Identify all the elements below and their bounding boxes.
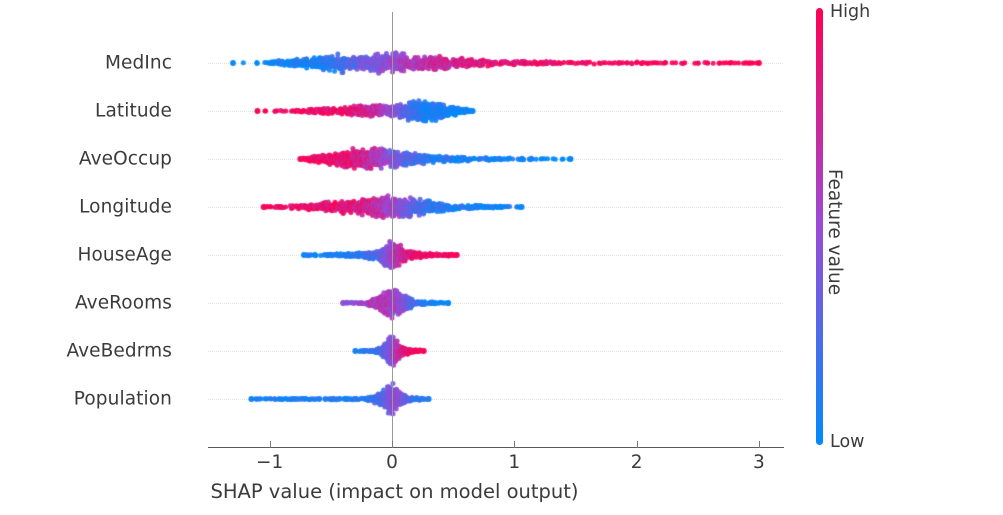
colorbar-high-label: High: [830, 2, 870, 22]
y-axis-label-population: Population: [74, 389, 172, 410]
feature-value-colorbar: [816, 8, 823, 445]
x-tick-mark-0: [270, 441, 271, 448]
zero-reference-line: [392, 12, 393, 448]
x-tick-label-2: 1: [508, 452, 520, 473]
y-axis-label-latitude: Latitude: [95, 101, 172, 122]
y-axis-label-avebedrms: AveBedrms: [66, 341, 172, 362]
shap-summary-plot: MedIncLatitudeAveOccupLongitudeHouseAgeA…: [0, 0, 1003, 515]
y-axis-label-longitude: Longitude: [79, 197, 172, 218]
x-tick-mark-4: [759, 441, 760, 448]
x-tick-label-3: 2: [631, 452, 643, 473]
y-axis-label-aveoccup: AveOccup: [79, 149, 172, 170]
x-tick-mark-1: [392, 441, 393, 448]
y-axis-label-medinc: MedInc: [105, 53, 172, 74]
x-tick-mark-2: [514, 441, 515, 448]
x-tick-label-0: −1: [256, 452, 283, 473]
x-tick-label-4: 3: [753, 452, 765, 473]
x-tick-mark-3: [637, 441, 638, 448]
y-axis-label-averooms: AveRooms: [75, 293, 172, 314]
x-axis-line: [208, 447, 784, 448]
colorbar-low-label: Low: [830, 432, 864, 452]
y-axis-label-houseage: HouseAge: [77, 245, 172, 266]
colorbar-title: Feature value: [824, 112, 845, 352]
x-axis-title: SHAP value (impact on model output): [0, 480, 1003, 503]
x-axis-title-text: SHAP value (impact on model output): [210, 480, 578, 503]
x-tick-label-1: 0: [386, 452, 398, 473]
